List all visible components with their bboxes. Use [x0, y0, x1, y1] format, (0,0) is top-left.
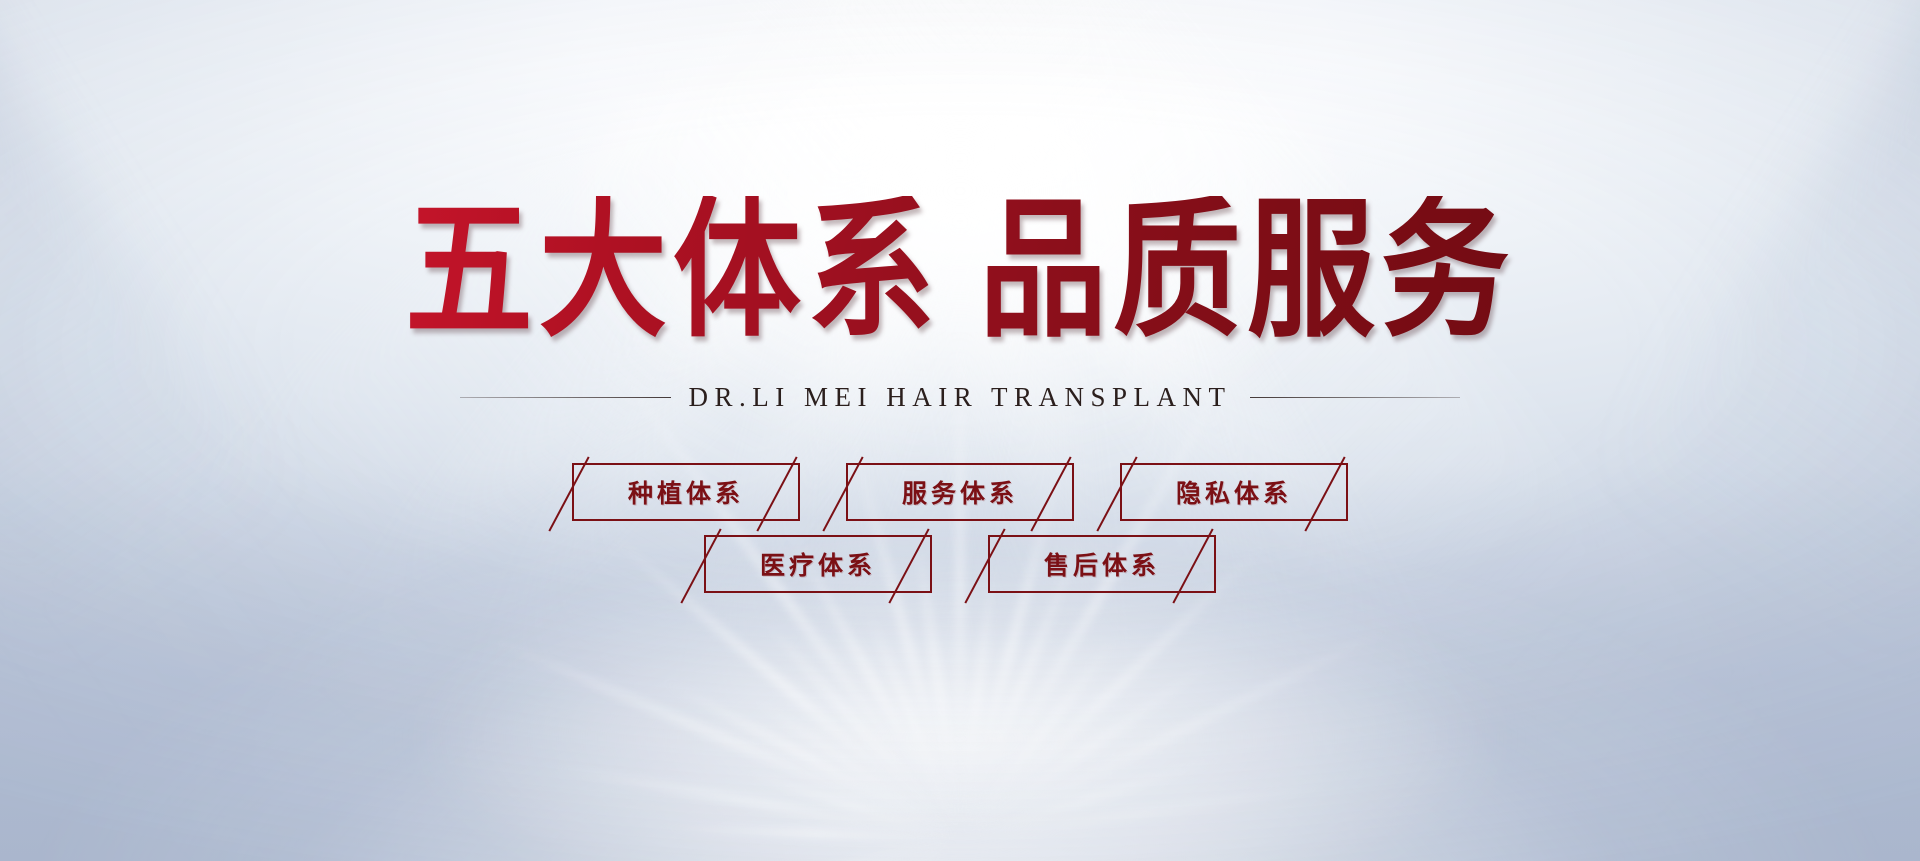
slash-left-icon [964, 528, 1005, 603]
promo-banner: 五大体系品质服务 DR.LI MEI HAIR TRANSPLANT 种植体系 … [0, 0, 1920, 861]
system-tag-shouhou[interactable]: 售后体系 [988, 535, 1216, 593]
subtitle-rule-left [460, 397, 671, 398]
headline-left: 五大体系 [405, 188, 941, 356]
system-tag-label: 种植体系 [628, 474, 744, 510]
system-tag-fuwu[interactable]: 服务体系 [846, 463, 1074, 521]
subtitle-rule-right [1250, 397, 1461, 398]
system-tag-label: 售后体系 [1044, 546, 1160, 582]
subtitle: DR.LI MEI HAIR TRANSPLANT [671, 382, 1250, 413]
banner-content: 五大体系品质服务 DR.LI MEI HAIR TRANSPLANT 种植体系 … [0, 0, 1920, 861]
slash-left-icon [548, 456, 589, 531]
slash-right-icon [1172, 528, 1213, 603]
slash-right-icon [1030, 456, 1071, 531]
system-tag-list: 种植体系 服务体系 隐私体系 医疗体系 [572, 463, 1348, 593]
system-tag-row: 种植体系 服务体系 隐私体系 [572, 463, 1348, 521]
slash-right-icon [1304, 456, 1345, 531]
system-tag-label: 医疗体系 [760, 546, 876, 582]
system-tag-yinsi[interactable]: 隐私体系 [1120, 463, 1348, 521]
slash-left-icon [1096, 456, 1137, 531]
subtitle-row: DR.LI MEI HAIR TRANSPLANT [460, 382, 1460, 413]
slash-left-icon [822, 456, 863, 531]
system-tag-label: 隐私体系 [1176, 474, 1292, 510]
system-tag-yiliao[interactable]: 医疗体系 [704, 535, 932, 593]
page-title: 五大体系品质服务 [405, 196, 1515, 347]
slash-left-icon [680, 528, 721, 603]
system-tag-zhongzhi[interactable]: 种植体系 [572, 463, 800, 521]
system-tag-label: 服务体系 [902, 474, 1018, 510]
slash-right-icon [756, 456, 797, 531]
slash-right-icon [888, 528, 929, 603]
system-tag-row: 医疗体系 售后体系 [704, 535, 1216, 593]
headline-right: 品质服务 [979, 188, 1515, 356]
